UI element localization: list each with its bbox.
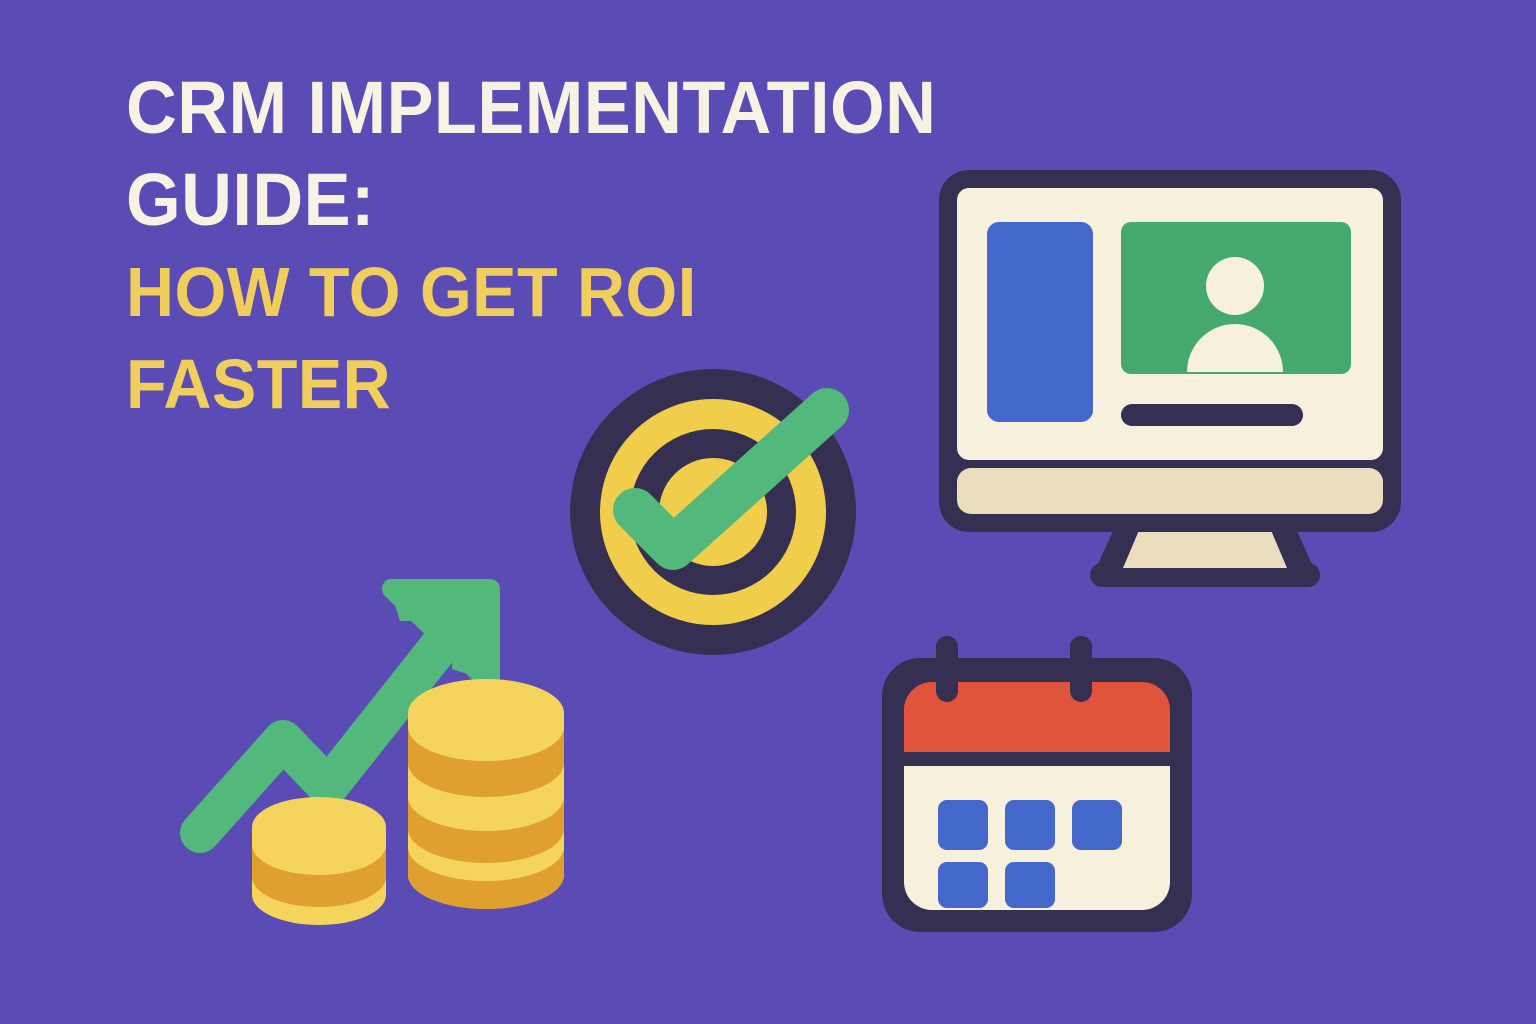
title-line-1: CRM IMPLEMENTATION — [126, 62, 1019, 154]
implementation-calendar-icon — [872, 632, 1202, 942]
title-line-2: GUIDE: — [126, 154, 1019, 246]
hero-graphic-canvas: CRM IMPLEMENTATION GUIDE: HOW TO GET ROI… — [0, 0, 1536, 1024]
growth-coins-icon — [180, 565, 580, 955]
title-line-3: HOW TO GET ROI — [126, 246, 1019, 338]
short-coin-stack — [252, 797, 386, 925]
tall-coin-stack — [408, 679, 564, 909]
target-with-checkmark-icon — [565, 362, 865, 662]
crm-dashboard-monitor-icon — [935, 168, 1405, 588]
